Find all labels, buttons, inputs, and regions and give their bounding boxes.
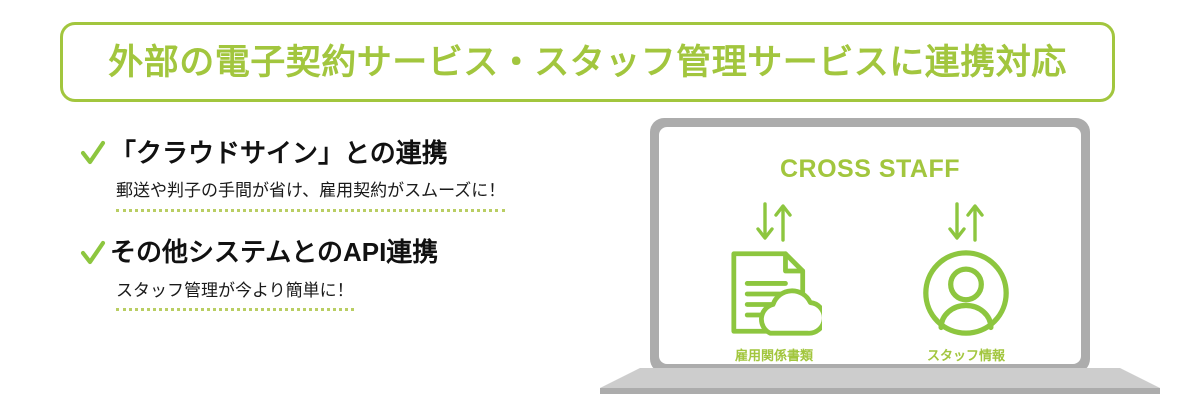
screen-icon-item-documents: 雇用関係書類 [704,199,844,364]
feature-heading: 「クラウドサイン」との連携 [80,138,600,168]
feature-title: 「クラウドサイン」との連携 [110,139,448,168]
feature-title: その他システムとのAPI連携 [110,238,438,267]
page-title: 外部の電子契約サービス・スタッフ管理サービスに連携対応 [108,45,1067,80]
down-up-arrows-icon [939,199,993,245]
check-icon [80,138,106,168]
screen-icon-item-staff: スタッフ情報 [896,199,1036,364]
feature-description: スタッフ管理が今より簡単に！ [116,278,354,312]
down-up-arrows-icon [747,199,801,245]
title-banner: 外部の電子契約サービス・スタッフ管理サービスに連携対応 [60,22,1115,102]
document-cloud-icon [726,249,822,337]
screen-title: CROSS STAFF [659,155,1081,184]
check-icon [80,238,106,268]
screen-icon-label: 雇用関係書類 [735,345,813,364]
laptop-lid: CROSS STAFF [650,118,1090,373]
feature-description-wrap: 郵送や判子の手間が省け、雇用契約がスムーズに！ [80,178,600,212]
feature-description-wrap: スタッフ管理が今より簡単に！ [80,278,600,312]
screen-icon-row: 雇用関係書類 [659,199,1081,364]
feature-heading: その他システムとのAPI連携 [80,238,600,268]
feature-list: 「クラウドサイン」との連携 郵送や判子の手間が省け、雇用契約がスムーズに！ その… [80,138,600,337]
feature-item: 「クラウドサイン」との連携 郵送や判子の手間が省け、雇用契約がスムーズに！ [80,138,600,212]
laptop-base [600,368,1160,394]
laptop-illustration: CROSS STAFF [600,110,1160,405]
screen-icon-label: スタッフ情報 [927,345,1005,364]
laptop-screen: CROSS STAFF [659,127,1081,364]
person-circle-icon [922,249,1010,337]
feature-item: その他システムとのAPI連携 スタッフ管理が今より簡単に！ [80,238,600,312]
feature-description: 郵送や判子の手間が省け、雇用契約がスムーズに！ [116,178,505,212]
